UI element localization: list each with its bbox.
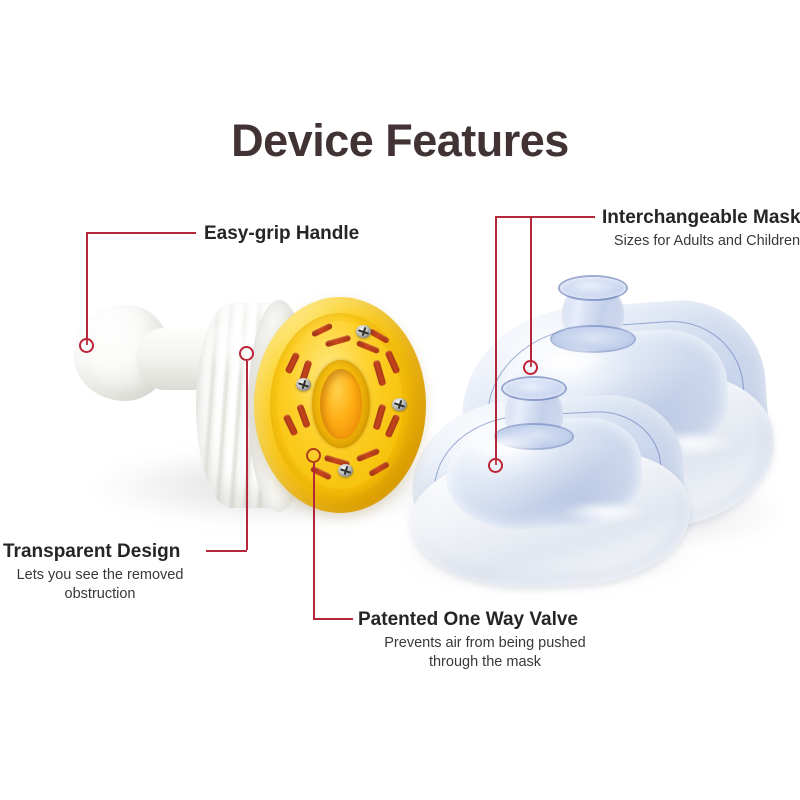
leader-line-transparent-design-vertical [246, 361, 248, 550]
callout-marker-dot-icon-adult-mask [523, 360, 538, 375]
leader-line-interchangeable-mask-vertical-left [495, 216, 497, 465]
child-mask-port-top-lip [503, 378, 565, 399]
leader-line-easy-grip-handle-vertical [86, 232, 88, 345]
child-mask-glint [462, 432, 542, 458]
leader-line-transparent-design-horizontal [206, 550, 247, 552]
callout-subtitle-transparent-design: Lets you see the removed obstruction [2, 566, 198, 603]
product-artwork [0, 0, 800, 800]
leader-line-interchangeable-mask-horizontal [495, 216, 595, 218]
callout-title-one-way-valve: Patented One Way Valve [358, 609, 578, 630]
callout-title-transparent-design: Transparent Design [3, 541, 180, 562]
leader-line-easy-grip-handle-horizontal [86, 232, 196, 234]
valve-screw [296, 378, 311, 391]
callout-marker-dot-icon-one-way-valve [306, 448, 321, 463]
callout-title-interchangeable-mask: Interchangeable Mask [602, 207, 800, 228]
infographic-canvas: Device Features [0, 0, 800, 800]
adult-mask-port-top-lip [560, 277, 626, 299]
valve-screw [356, 325, 371, 338]
child-mask-rim-glint [560, 500, 648, 524]
callout-title-easy-grip-handle: Easy-grip Handle [204, 223, 359, 244]
callout-marker-dot-icon-transparent-design [239, 346, 254, 361]
leader-line-one-way-valve-horizontal [313, 618, 353, 620]
leader-line-one-way-valve-vertical [313, 463, 315, 618]
valve-screw [338, 464, 353, 477]
callout-marker-dot-icon-easy-grip-handle [79, 338, 94, 353]
valve-center-opening [320, 369, 362, 439]
callout-subtitle-one-way-valve: Prevents air from being pushed through t… [360, 634, 610, 671]
callout-subtitle-interchangeable-mask: Sizes for Adults and Children [602, 232, 800, 251]
callout-marker-dot-icon-child-mask [488, 458, 503, 473]
valve-screw [392, 398, 407, 411]
leader-line-interchangeable-mask-vertical-right [530, 216, 532, 367]
